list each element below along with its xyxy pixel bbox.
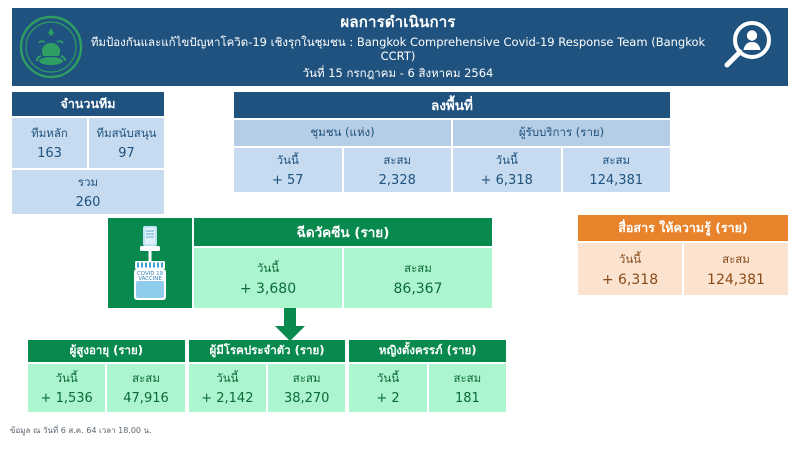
elderly-cell-value: 47,916 bbox=[123, 391, 169, 406]
communication-cell-total: สะสม 124,381 bbox=[684, 243, 788, 295]
team-main-label: ทีมหลัก bbox=[31, 125, 68, 143]
field-cell-value: 124,381 bbox=[589, 173, 643, 188]
target-group-elderly: ผู้สูงอายุ (ราย) วันนี้ + 1,536 สะสม 47,… bbox=[28, 340, 185, 412]
target-groups-row: ผู้สูงอายุ (ราย) วันนี้ + 1,536 สะสม 47,… bbox=[28, 340, 506, 412]
communication-title: สื่อสาร ให้ความรู้ (ราย) bbox=[578, 215, 788, 241]
field-group-clients: ผู้รับบริการ (ราย) bbox=[453, 120, 670, 146]
field-group-community-label: ชุมชน (แห่ง) bbox=[310, 124, 374, 142]
field-cell-label: สะสม bbox=[602, 152, 630, 170]
team-main-value: 163 bbox=[37, 146, 62, 161]
communication-block: สื่อสาร ให้ความรู้ (ราย) วันนี้ + 6,318 … bbox=[578, 215, 788, 295]
elderly-cell-label: วันนี้ bbox=[56, 370, 78, 388]
communication-cell-value: + 6,318 bbox=[602, 272, 658, 288]
communication-cell-value: 124,381 bbox=[707, 272, 765, 288]
elderly-cell-value: + 1,536 bbox=[41, 391, 93, 406]
field-visit-block: ลงพื้นที่ ชุมชน (แห่ง) ผู้รับบริการ (ราย… bbox=[234, 92, 670, 192]
vaccination-cell-label: สะสม bbox=[404, 260, 432, 278]
team-support-cell: ทีมสนับสนุน 97 bbox=[89, 118, 164, 168]
elderly-cell-total: สะสม 47,916 bbox=[107, 364, 184, 412]
chronic-cell-label: สะสม bbox=[293, 370, 321, 388]
communication-cell-label: วันนี้ bbox=[619, 251, 641, 269]
down-arrow-icon bbox=[268, 308, 312, 342]
page-title: ผลการดำเนินการ bbox=[88, 13, 708, 32]
field-cell-label: วันนี้ bbox=[496, 152, 518, 170]
team-total-cell: รวม 260 bbox=[12, 170, 164, 214]
field-cell-value: + 6,318 bbox=[481, 173, 533, 188]
team-count-title: จำนวนทีม bbox=[12, 92, 164, 116]
communication-cell-today: วันนี้ + 6,318 bbox=[578, 243, 682, 295]
communication-cell-label: สะสม bbox=[722, 251, 750, 269]
pregnant-cell-value: 181 bbox=[455, 391, 480, 406]
field-cell-value: 2,328 bbox=[379, 173, 416, 188]
field-cell-label: สะสม bbox=[383, 152, 411, 170]
bangkok-metropolitan-seal-icon: ····· bbox=[18, 14, 84, 80]
vaccination-cell-today: วันนี้ + 3,680 bbox=[194, 248, 342, 308]
team-total-value: 260 bbox=[76, 195, 101, 210]
vaccination-cell-value: + 3,680 bbox=[240, 281, 296, 297]
field-cell-value: + 57 bbox=[272, 173, 304, 188]
chronic-cell-value: + 2,142 bbox=[201, 391, 253, 406]
target-group-pregnant: หญิงตั้งครรภ์ (ราย) วันนี้ + 2 สะสม 181 bbox=[349, 340, 506, 412]
team-main-cell: ทีมหลัก 163 bbox=[12, 118, 87, 168]
chronic-cell-today: วันนี้ + 2,142 bbox=[189, 364, 266, 412]
vaccination-panel: ฉีดวัคซีน (ราย) วันนี้ + 3,680 สะสม 86,3… bbox=[194, 218, 492, 308]
field-group-clients-label: ผู้รับบริการ (ราย) bbox=[519, 124, 604, 142]
vaccination-cell-label: วันนี้ bbox=[257, 260, 279, 278]
page-date-range: วันที่ 15 กรกฎาคม - 6 สิงหาคม 2564 bbox=[88, 66, 708, 81]
footer-note: ข้อมูล ณ วันที่ 6 ส.ค. 64 เวลา 18.00 น. bbox=[10, 424, 152, 437]
svg-text:·····: ····· bbox=[47, 33, 55, 39]
field-cell-label: วันนี้ bbox=[277, 152, 299, 170]
pregnant-cell-label: วันนี้ bbox=[377, 370, 399, 388]
team-support-label: ทีมสนับสนุน bbox=[96, 125, 156, 143]
field-visit-title: ลงพื้นที่ bbox=[234, 92, 670, 118]
field-cell-clients-total: สะสม 124,381 bbox=[563, 148, 671, 192]
covid-vaccine-syringe-icon: COVID 19 VACCINE bbox=[108, 218, 192, 308]
page-header: ····· ผลการดำเนินการ ทีมป้องกันและแก้ไขป… bbox=[12, 8, 788, 86]
pregnant-cell-value: + 2 bbox=[376, 391, 399, 406]
team-count-block: จำนวนทีม ทีมหลัก 163 ทีมสนับสนุน 97 รวม … bbox=[12, 92, 164, 214]
pregnant-cell-total: สะสม 181 bbox=[429, 364, 506, 412]
chronic-cell-label: วันนี้ bbox=[216, 370, 238, 388]
vaccination-cell-value: 86,367 bbox=[394, 281, 443, 297]
field-group-community: ชุมชน (แห่ง) bbox=[234, 120, 451, 146]
field-cell-community-total: สะสม 2,328 bbox=[344, 148, 452, 192]
field-cell-community-today: วันนี้ + 57 bbox=[234, 148, 342, 192]
chronic-cell-total: สะสม 38,270 bbox=[268, 364, 345, 412]
magnifier-person-icon bbox=[712, 13, 780, 81]
vaccination-cell-total: สะสม 86,367 bbox=[344, 248, 492, 308]
field-cell-clients-today: วันนี้ + 6,318 bbox=[453, 148, 561, 192]
target-group-chronic-disease-title: ผู้มีโรคประจำตัว (ราย) bbox=[189, 340, 346, 362]
infographic-page: ····· ผลการดำเนินการ ทีมป้องกันและแก้ไขป… bbox=[0, 0, 800, 450]
vial-label-line2: VACCINE bbox=[138, 276, 162, 282]
header-text-block: ผลการดำเนินการ ทีมป้องกันและแก้ไขปัญหาโค… bbox=[84, 13, 712, 80]
elderly-cell-label: สะสม bbox=[132, 370, 160, 388]
vaccination-block: COVID 19 VACCINE ฉีดวัคซีน (ราย) วันนี้ … bbox=[108, 218, 492, 308]
pregnant-cell-label: สะสม bbox=[453, 370, 481, 388]
page-subtitle: ทีมป้องกันและแก้ไขปัญหาโควิด-19 เชิงรุกใ… bbox=[88, 35, 708, 64]
target-group-pregnant-title: หญิงตั้งครรภ์ (ราย) bbox=[349, 340, 506, 362]
pregnant-cell-today: วันนี้ + 2 bbox=[349, 364, 426, 412]
team-total-label: รวม bbox=[78, 174, 98, 192]
target-group-elderly-title: ผู้สูงอายุ (ราย) bbox=[28, 340, 185, 362]
chronic-cell-value: 38,270 bbox=[284, 391, 330, 406]
elderly-cell-today: วันนี้ + 1,536 bbox=[28, 364, 105, 412]
vaccination-title: ฉีดวัคซีน (ราย) bbox=[194, 218, 492, 246]
target-group-chronic-disease: ผู้มีโรคประจำตัว (ราย) วันนี้ + 2,142 สะ… bbox=[189, 340, 346, 412]
team-support-value: 97 bbox=[118, 146, 135, 161]
